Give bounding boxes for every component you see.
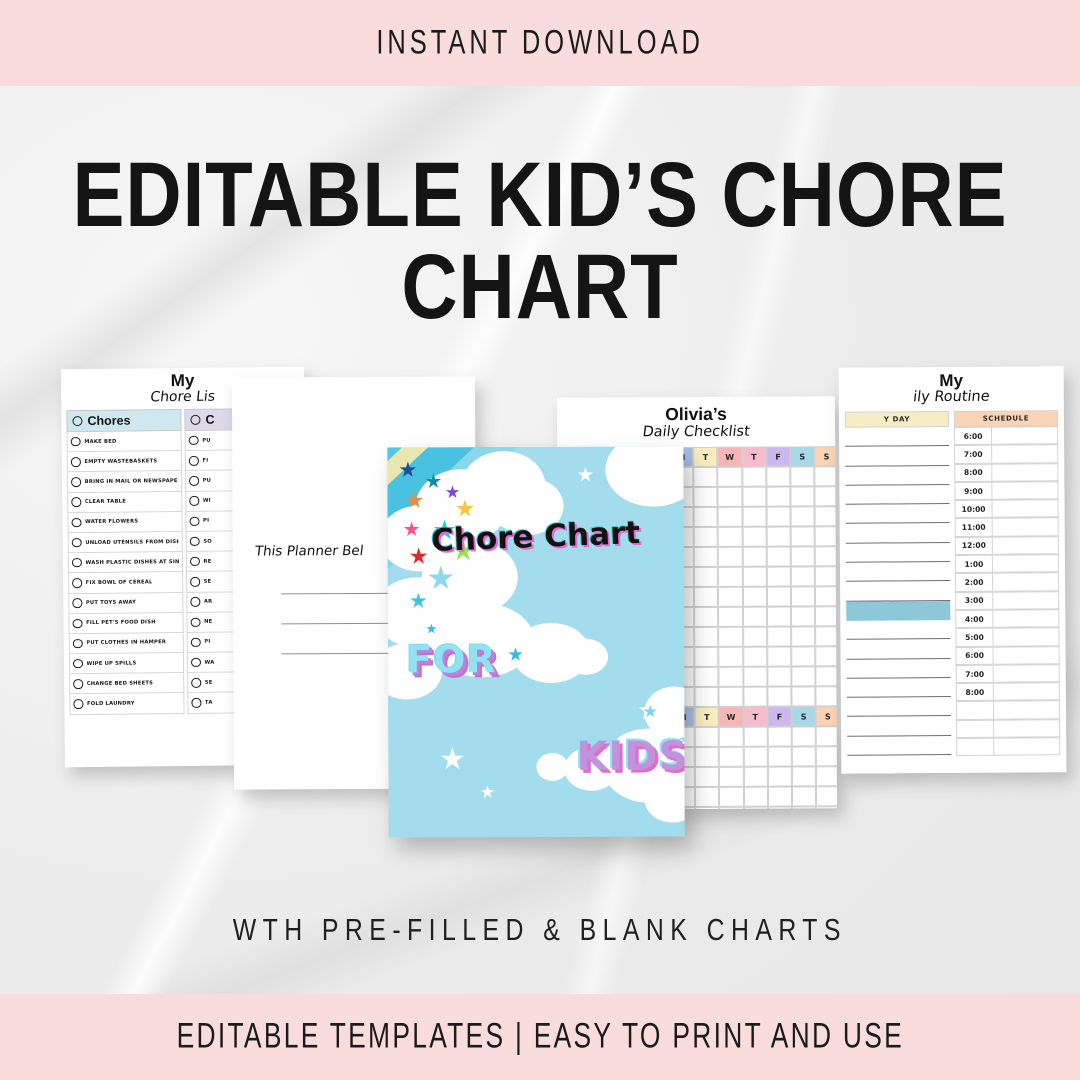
routine-schedule-time: 6:00 bbox=[956, 646, 994, 665]
routine-schedule-value-cell[interactable] bbox=[994, 682, 1060, 701]
checklist-checkbox-cell[interactable] bbox=[792, 746, 816, 766]
checklist-checkbox-cell[interactable] bbox=[695, 667, 719, 687]
chore-row[interactable]: PUT TOYS AWAY bbox=[68, 593, 183, 614]
routine-schedule-row[interactable]: 4:00 bbox=[955, 609, 1059, 628]
checkbox-circle-icon[interactable] bbox=[191, 658, 201, 668]
checklist-day-header: S bbox=[814, 446, 837, 466]
routine-schedule-row[interactable]: 2:00 bbox=[955, 573, 1059, 592]
checklist-day-header: S bbox=[816, 706, 837, 726]
routine-myday-line[interactable] bbox=[846, 639, 950, 659]
checklist-checkbox-cell[interactable] bbox=[742, 527, 766, 547]
routine-schedule-row[interactable]: 6:00 bbox=[956, 646, 1060, 665]
checklist-checkbox-cell[interactable] bbox=[766, 547, 790, 567]
routine-schedule-value-cell[interactable] bbox=[992, 445, 1058, 464]
checkbox-circle-icon[interactable] bbox=[190, 577, 200, 587]
checklist-checkbox-cell[interactable] bbox=[695, 807, 719, 810]
chore-label: BRING IN MAIL OR NEWSPAPER bbox=[85, 478, 179, 485]
routine-column-myday: Y DAY bbox=[845, 411, 952, 774]
routine-schedule-header: SCHEDULE bbox=[954, 410, 1058, 427]
routine-schedule-time: 1:00 bbox=[955, 555, 993, 574]
checklist-checkbox-cell[interactable] bbox=[816, 726, 837, 746]
checklist-checkbox-cell[interactable] bbox=[743, 727, 767, 747]
checklist-checkbox-cell[interactable] bbox=[816, 766, 837, 786]
routine-schedule-value-cell[interactable] bbox=[992, 426, 1058, 445]
routine-myday-line-highlighted[interactable] bbox=[846, 601, 950, 621]
checklist-checkbox-cell[interactable] bbox=[768, 787, 792, 807]
checklist-checkbox-cell[interactable] bbox=[791, 686, 815, 706]
checklist-checkbox-cell[interactable] bbox=[766, 467, 790, 487]
checklist-checkbox-cell[interactable] bbox=[694, 647, 718, 667]
chore-row[interactable]: CHANGE BED SHEETS bbox=[69, 673, 184, 694]
checklist-title-sub: Daily Checklist bbox=[557, 423, 836, 441]
chore-label: TA bbox=[205, 700, 213, 706]
routine-schedule-row[interactable]: 7:00 bbox=[954, 445, 1058, 464]
checklist-checkbox-cell[interactable] bbox=[718, 507, 742, 527]
routine-myday-line[interactable] bbox=[847, 755, 951, 774]
checklist-day-header: T bbox=[743, 707, 767, 727]
routine-myday-line[interactable] bbox=[847, 736, 951, 756]
checkbox-circle-icon[interactable] bbox=[71, 497, 81, 507]
routine-schedule-time: 3:00 bbox=[955, 591, 993, 610]
chore-label: PU bbox=[202, 437, 211, 443]
checklist-checkbox-cell[interactable] bbox=[815, 566, 837, 586]
checkbox-circle-icon[interactable] bbox=[73, 639, 83, 649]
checklist-checkbox-cell[interactable] bbox=[767, 587, 791, 607]
checkbox-circle-icon[interactable] bbox=[72, 598, 82, 608]
chore-label: WA bbox=[204, 659, 214, 665]
chore-row[interactable]: EMPTY WASTEBASKETS bbox=[67, 451, 182, 472]
checklist-checkbox-cell[interactable] bbox=[742, 587, 766, 607]
chore-label: NE bbox=[204, 619, 212, 625]
checkbox-circle-icon[interactable] bbox=[71, 437, 81, 447]
routine-schedule-row[interactable]: 12:00 bbox=[955, 536, 1059, 555]
routine-schedule-value-cell[interactable] bbox=[993, 573, 1059, 592]
routine-schedule-value-cell[interactable] bbox=[992, 463, 1058, 482]
routine-schedule-time-blank[interactable] bbox=[956, 738, 994, 757]
checklist-checkbox-cell[interactable] bbox=[694, 547, 718, 567]
checklist-day-header: S bbox=[791, 706, 815, 726]
chore-label: FOLD LAUNDRY bbox=[87, 701, 135, 708]
chore-label: EMPTY WASTEBASKETS bbox=[84, 458, 157, 465]
routine-schedule-value-cell[interactable] bbox=[994, 719, 1060, 738]
routine-myday-line[interactable] bbox=[847, 678, 951, 698]
routine-myday-line[interactable] bbox=[846, 543, 950, 563]
cloud-shape bbox=[564, 639, 608, 675]
checklist-checkbox-cell[interactable] bbox=[792, 726, 816, 746]
checklist-checkbox-cell[interactable] bbox=[766, 507, 790, 527]
checkbox-circle-icon[interactable] bbox=[189, 496, 199, 506]
checklist-checkbox-cell[interactable] bbox=[766, 527, 790, 547]
checklist-checkbox-cell[interactable] bbox=[792, 766, 816, 786]
checklist-checkbox-cell[interactable] bbox=[791, 586, 815, 606]
checklist-checkbox-cell[interactable] bbox=[791, 646, 815, 666]
checklist-checkbox-cell[interactable] bbox=[719, 787, 743, 807]
routine-myday-line[interactable] bbox=[845, 466, 949, 486]
checklist-checkbox-cell[interactable] bbox=[719, 687, 743, 707]
routine-column-schedule: SCHEDULE6:007:008:009:0010:0011:0012:001… bbox=[954, 410, 1061, 774]
checkbox-circle-icon[interactable] bbox=[72, 538, 82, 548]
chore-label: PI bbox=[203, 518, 209, 524]
checklist-checkbox-cell[interactable] bbox=[718, 587, 742, 607]
chore-row[interactable]: UNLOAD UTENSILS FROM DISHWASHER bbox=[68, 532, 183, 553]
checklist-checkbox-cell[interactable] bbox=[816, 786, 837, 806]
checklist-checkbox-cell[interactable] bbox=[695, 787, 719, 807]
cover-word-kids: KIDS bbox=[576, 733, 684, 779]
checklist-checkbox-cell[interactable] bbox=[743, 767, 767, 787]
page-title: EDITABLE KID’S CHORE CHART bbox=[0, 150, 1080, 334]
chore-row[interactable]: FILL PET'S FOOD DISH bbox=[68, 613, 183, 634]
chore-row[interactable]: MAKE BED bbox=[67, 431, 182, 452]
routine-schedule-value-cell[interactable] bbox=[993, 628, 1059, 647]
routine-schedule-value-cell[interactable] bbox=[993, 591, 1059, 610]
checklist-day-header: S bbox=[790, 446, 814, 466]
routine-schedule-row[interactable]: 9:00 bbox=[954, 481, 1058, 500]
checklist-checkbox-cell[interactable] bbox=[791, 666, 815, 686]
checkbox-circle-icon[interactable] bbox=[190, 557, 200, 567]
checklist-checkbox-cell[interactable] bbox=[768, 747, 792, 767]
checklist-checkbox-cell[interactable] bbox=[743, 667, 767, 687]
checklist-checkbox-cell[interactable] bbox=[767, 667, 791, 687]
checklist-checkbox-cell[interactable] bbox=[743, 627, 767, 647]
checklist-checkbox-cell[interactable] bbox=[694, 567, 718, 587]
chore-label: WIPE UP SPILLS bbox=[86, 660, 136, 667]
routine-schedule-time: 8:00 bbox=[954, 463, 992, 482]
chore-row[interactable]: FOLD LAUNDRY bbox=[69, 693, 184, 714]
checklist-checkbox-cell[interactable] bbox=[815, 526, 837, 546]
routine-schedule-row[interactable]: 10:00 bbox=[955, 499, 1059, 518]
routine-schedule-time: 6:00 bbox=[954, 427, 992, 446]
routine-schedule-time: 12:00 bbox=[955, 536, 993, 555]
routine-schedule-value-cell[interactable] bbox=[993, 518, 1059, 537]
routine-schedule-value-cell[interactable] bbox=[993, 499, 1059, 518]
checklist-checkbox-cell[interactable] bbox=[719, 747, 743, 767]
checkbox-circle-icon[interactable] bbox=[73, 619, 83, 629]
top-banner: INSTANT DOWNLOAD bbox=[0, 0, 1080, 86]
checklist-checkbox-cell[interactable] bbox=[790, 466, 814, 486]
routine-schedule-time: 9:00 bbox=[954, 482, 992, 501]
sub-caption: WTH PRE-FILLED & BLANK CHARTS bbox=[0, 915, 1080, 946]
checklist-checkbox-cell[interactable] bbox=[719, 627, 743, 647]
chore-label: SE bbox=[205, 680, 213, 686]
top-banner-text: INSTANT DOWNLOAD bbox=[376, 24, 704, 63]
routine-schedule-time: 7:00 bbox=[954, 445, 992, 464]
checklist-checkbox-cell[interactable] bbox=[767, 727, 791, 747]
checklist-checkbox-cell[interactable] bbox=[694, 507, 718, 527]
checklist-checkbox-cell[interactable] bbox=[815, 626, 837, 646]
checklist-checkbox-cell[interactable] bbox=[742, 507, 766, 527]
planner-belongs-title: This Planner Bel bbox=[254, 543, 365, 560]
routine-myday-line[interactable] bbox=[846, 562, 950, 582]
chore-label: SO bbox=[203, 538, 212, 544]
checklist-checkbox-cell[interactable] bbox=[718, 607, 742, 627]
mockup-page-daily-routine[interactable]: My ily Routine Y DAY SCHEDULE6:007:008:0… bbox=[839, 366, 1067, 774]
checklist-checkbox-cell[interactable] bbox=[767, 647, 791, 667]
checklist-checkbox-cell[interactable] bbox=[695, 727, 719, 747]
checklist-checkbox-cell[interactable] bbox=[816, 746, 837, 766]
checklist-day-header: T bbox=[695, 707, 719, 727]
checklist-checkbox-cell[interactable] bbox=[694, 527, 718, 547]
routine-schedule-row[interactable]: 11:00 bbox=[955, 518, 1059, 537]
chore-column-header: Chores bbox=[66, 409, 181, 432]
chore-label: UNLOAD UTENSILS FROM DISHWASHER bbox=[85, 539, 179, 546]
checklist-checkbox-cell[interactable] bbox=[815, 546, 837, 566]
checklist-checkbox-cell[interactable] bbox=[815, 606, 837, 626]
routine-schedule-value-cell[interactable] bbox=[994, 646, 1060, 665]
checklist-checkbox-cell[interactable] bbox=[791, 566, 815, 586]
checklist-checkbox-cell[interactable] bbox=[743, 747, 767, 767]
checklist-checkbox-cell[interactable] bbox=[693, 467, 717, 487]
checklist-checkbox-cell[interactable] bbox=[744, 787, 768, 807]
checklist-checkbox-cell[interactable] bbox=[791, 546, 815, 566]
checkbox-circle-icon[interactable] bbox=[189, 456, 199, 466]
checklist-checkbox-cell[interactable] bbox=[718, 527, 742, 547]
checklist-checkbox-cell[interactable] bbox=[816, 686, 838, 706]
chore-label: PUT TOYS AWAY bbox=[86, 600, 136, 607]
checkbox-circle-icon[interactable] bbox=[190, 597, 200, 607]
checklist-checkbox-cell[interactable] bbox=[694, 607, 718, 627]
checklist-checkbox-cell[interactable] bbox=[719, 767, 743, 787]
checkbox-circle-icon[interactable] bbox=[71, 477, 81, 487]
chore-label: WATER FLOWERS bbox=[85, 519, 138, 526]
chore-label: FIX BOWL OF CEREAL bbox=[86, 579, 153, 586]
chore-row[interactable]: FIX BOWL OF CEREAL bbox=[68, 572, 183, 593]
checklist-checkbox-cell[interactable] bbox=[767, 687, 791, 707]
checkbox-circle-icon[interactable] bbox=[190, 415, 200, 425]
checklist-checkbox-cell[interactable] bbox=[767, 567, 791, 587]
routine-myday-line[interactable] bbox=[847, 716, 951, 736]
checklist-checkbox-cell[interactable] bbox=[719, 667, 743, 687]
routine-schedule-value-cell[interactable] bbox=[993, 609, 1059, 628]
checklist-checkbox-cell[interactable] bbox=[743, 607, 767, 627]
bottom-banner-text: EDITABLE TEMPLATES | EASY TO PRINT AND U… bbox=[176, 1017, 903, 1057]
checkbox-circle-icon[interactable] bbox=[191, 698, 201, 708]
chore-label: MAKE BED bbox=[84, 438, 116, 444]
routine-myday-line[interactable] bbox=[847, 659, 951, 679]
routine-myday-header: Y DAY bbox=[845, 411, 949, 428]
checklist-checkbox-cell[interactable] bbox=[718, 567, 742, 587]
routine-myday-line[interactable] bbox=[846, 620, 950, 640]
chore-label: CHANGE BED SHEETS bbox=[87, 680, 153, 687]
routine-schedule-value-cell[interactable] bbox=[994, 664, 1060, 683]
routine-schedule-time: 5:00 bbox=[955, 628, 993, 647]
checklist-checkbox-cell[interactable] bbox=[719, 807, 743, 810]
checklist-checkbox-cell[interactable] bbox=[768, 767, 792, 787]
chore-column-header-label: C bbox=[205, 413, 214, 427]
chore-label: PUT CLOTHES IN HAMPER bbox=[86, 640, 166, 647]
bottom-banner: EDITABLE TEMPLATES | EASY TO PRINT AND U… bbox=[0, 994, 1080, 1080]
routine-myday-line[interactable] bbox=[845, 485, 949, 505]
routine-schedule-row[interactable]: 1:00 bbox=[955, 554, 1059, 573]
routine-myday-line[interactable] bbox=[846, 524, 950, 544]
chore-label: PI bbox=[204, 639, 210, 645]
chore-label: CLEAR TABLE bbox=[85, 499, 126, 505]
chore-label: SE bbox=[204, 579, 212, 585]
routine-schedule-time: 7:00 bbox=[956, 665, 994, 684]
checklist-day-header: F bbox=[767, 707, 791, 727]
routine-schedule-value-cell[interactable] bbox=[992, 481, 1058, 500]
chore-label: FI bbox=[202, 458, 208, 464]
checklist-checkbox-cell[interactable] bbox=[742, 467, 766, 487]
routine-schedule-row-blank[interactable] bbox=[956, 719, 1060, 738]
checkbox-circle-icon[interactable] bbox=[189, 516, 199, 526]
checklist-checkbox-cell[interactable] bbox=[815, 486, 838, 506]
checkbox-circle-icon[interactable] bbox=[72, 558, 82, 568]
routine-schedule-time-blank[interactable] bbox=[956, 701, 994, 720]
checklist-checkbox-cell[interactable] bbox=[742, 487, 766, 507]
chore-row[interactable]: BRING IN MAIL OR NEWSPAPER bbox=[67, 471, 182, 492]
checklist-checkbox-cell[interactable] bbox=[791, 626, 815, 646]
routine-schedule-value-cell[interactable] bbox=[994, 737, 1060, 756]
checkbox-circle-icon[interactable] bbox=[71, 457, 81, 467]
checklist-checkbox-cell[interactable] bbox=[766, 487, 790, 507]
checklist-checkbox-cell[interactable] bbox=[792, 786, 816, 806]
checklist-checkbox-cell[interactable] bbox=[742, 547, 766, 567]
checklist-checkbox-cell[interactable] bbox=[744, 807, 768, 810]
routine-schedule-row[interactable]: 8:00 bbox=[954, 463, 1058, 482]
routine-schedule-value-cell[interactable] bbox=[993, 554, 1059, 573]
checklist-checkbox-cell[interactable] bbox=[767, 607, 791, 627]
routine-myday-line[interactable] bbox=[845, 446, 949, 466]
page-title-line-1: EDITABLE KID’S CHORE bbox=[27, 144, 1053, 247]
checklist-checkbox-cell[interactable] bbox=[792, 806, 816, 809]
checklist-day-header: T bbox=[742, 447, 766, 467]
checklist-checkbox-cell[interactable] bbox=[742, 567, 766, 587]
checklist-checkbox-cell[interactable] bbox=[767, 627, 791, 647]
routine-myday-line[interactable] bbox=[845, 427, 949, 447]
routine-schedule-value-cell[interactable] bbox=[993, 536, 1059, 555]
routine-myday-line[interactable] bbox=[846, 581, 950, 601]
checkbox-circle-icon[interactable] bbox=[191, 638, 201, 648]
checklist-checkbox-cell[interactable] bbox=[790, 506, 814, 526]
chore-label: AR bbox=[204, 599, 213, 605]
chore-column: ChoresMAKE BEDEMPTY WASTEBASKETSBRING IN… bbox=[66, 409, 184, 715]
routine-schedule-row[interactable]: 6:00 bbox=[954, 426, 1058, 445]
checklist-checkbox-cell[interactable] bbox=[815, 646, 837, 666]
checkbox-circle-icon[interactable] bbox=[72, 416, 82, 426]
checklist-checkbox-cell[interactable] bbox=[694, 487, 718, 507]
routine-title-sub: ily Routine bbox=[839, 388, 1065, 407]
chore-row[interactable]: WATER FLOWERS bbox=[67, 512, 182, 533]
routine-schedule-time-blank[interactable] bbox=[956, 719, 994, 738]
checklist-checkbox-cell[interactable] bbox=[791, 606, 815, 626]
page-title-line-2: CHART bbox=[27, 236, 1053, 339]
routine-schedule-row[interactable]: 7:00 bbox=[956, 664, 1060, 683]
chore-label: PU bbox=[203, 478, 212, 484]
checklist-day-header: T bbox=[693, 447, 717, 467]
sub-caption-text: WTH PRE-FILLED & BLANK CHARTS bbox=[233, 913, 847, 948]
routine-myday-line[interactable] bbox=[847, 697, 951, 717]
chore-column-header-label: Chores bbox=[87, 414, 130, 428]
checklist-day-header: W bbox=[719, 707, 743, 727]
routine-schedule-row-blank[interactable] bbox=[956, 737, 1060, 756]
checkbox-circle-icon[interactable] bbox=[73, 699, 83, 709]
routine-title-my: My bbox=[839, 366, 1064, 390]
routine-schedule-row-blank[interactable] bbox=[956, 701, 1060, 720]
checklist-checkbox-cell[interactable] bbox=[743, 687, 767, 707]
routine-schedule-time: 10:00 bbox=[955, 500, 993, 519]
routine-schedule-row[interactable]: 5:00 bbox=[955, 628, 1059, 647]
chore-row[interactable]: WASH PLASTIC DISHES AT SINK bbox=[68, 552, 183, 573]
checkbox-circle-icon[interactable] bbox=[191, 678, 201, 688]
checkbox-circle-icon[interactable] bbox=[71, 518, 81, 528]
chore-row[interactable]: PUT CLOTHES IN HAMPER bbox=[69, 633, 184, 654]
cover-word-for: FOR bbox=[406, 637, 497, 681]
checklist-checkbox-cell[interactable] bbox=[694, 627, 718, 647]
checklist-checkbox-cell[interactable] bbox=[768, 807, 792, 810]
checkbox-circle-icon[interactable] bbox=[189, 476, 199, 486]
checklist-checkbox-cell[interactable] bbox=[743, 647, 767, 667]
checklist-checkbox-cell[interactable] bbox=[790, 486, 814, 506]
checkbox-circle-icon[interactable] bbox=[191, 617, 201, 627]
chore-row[interactable]: WIPE UP SPILLS bbox=[69, 653, 184, 674]
cloud-shape bbox=[536, 753, 568, 781]
checkbox-circle-icon[interactable] bbox=[72, 578, 82, 588]
chore-label: FILL PET'S FOOD DISH bbox=[86, 620, 156, 627]
checkbox-circle-icon[interactable] bbox=[73, 659, 83, 669]
checklist-checkbox-cell[interactable] bbox=[694, 587, 718, 607]
checklist-checkbox-cell[interactable] bbox=[791, 526, 815, 546]
checklist-checkbox-cell[interactable] bbox=[719, 647, 743, 667]
checkbox-circle-icon[interactable] bbox=[190, 537, 200, 547]
checklist-checkbox-cell[interactable] bbox=[815, 666, 837, 686]
checklist-day-header: W bbox=[718, 447, 742, 467]
checkbox-circle-icon[interactable] bbox=[73, 679, 83, 689]
chore-label: RE bbox=[203, 558, 211, 564]
checklist-day-header: F bbox=[766, 447, 790, 467]
checkbox-circle-icon[interactable] bbox=[189, 436, 199, 446]
routine-schedule-time: 11:00 bbox=[955, 518, 993, 537]
chore-row[interactable]: CLEAR TABLE bbox=[67, 492, 182, 513]
checklist-checkbox-cell[interactable] bbox=[718, 467, 742, 487]
checklist-checkbox-cell[interactable] bbox=[695, 687, 719, 707]
checklist-checkbox-cell[interactable] bbox=[814, 466, 837, 486]
checklist-checkbox-cell[interactable] bbox=[815, 506, 837, 526]
chore-label: WASH PLASTIC DISHES AT SINK bbox=[85, 559, 179, 566]
routine-schedule-time: 2:00 bbox=[955, 573, 993, 592]
checklist-checkbox-cell[interactable] bbox=[816, 806, 837, 809]
checklist-checkbox-cell[interactable] bbox=[695, 767, 719, 787]
routine-schedule-row[interactable]: 3:00 bbox=[955, 591, 1059, 610]
mockup-page-cover[interactable]: Chore Chart FOR KIDS bbox=[387, 446, 684, 837]
routine-schedule-value-cell[interactable] bbox=[994, 701, 1060, 720]
checklist-checkbox-cell[interactable] bbox=[718, 487, 742, 507]
checklist-checkbox-cell[interactable] bbox=[695, 747, 719, 767]
checklist-checkbox-cell[interactable] bbox=[719, 727, 743, 747]
checklist-title-name: Olivia’s bbox=[557, 396, 835, 424]
routine-schedule-time: 4:00 bbox=[955, 610, 993, 629]
routine-schedule-time: 8:00 bbox=[956, 683, 994, 702]
routine-myday-line[interactable] bbox=[846, 504, 950, 524]
checklist-checkbox-cell[interactable] bbox=[718, 547, 742, 567]
chore-label: WI bbox=[203, 498, 211, 504]
routine-schedule-row[interactable]: 8:00 bbox=[956, 682, 1060, 701]
checklist-checkbox-cell[interactable] bbox=[815, 586, 837, 606]
